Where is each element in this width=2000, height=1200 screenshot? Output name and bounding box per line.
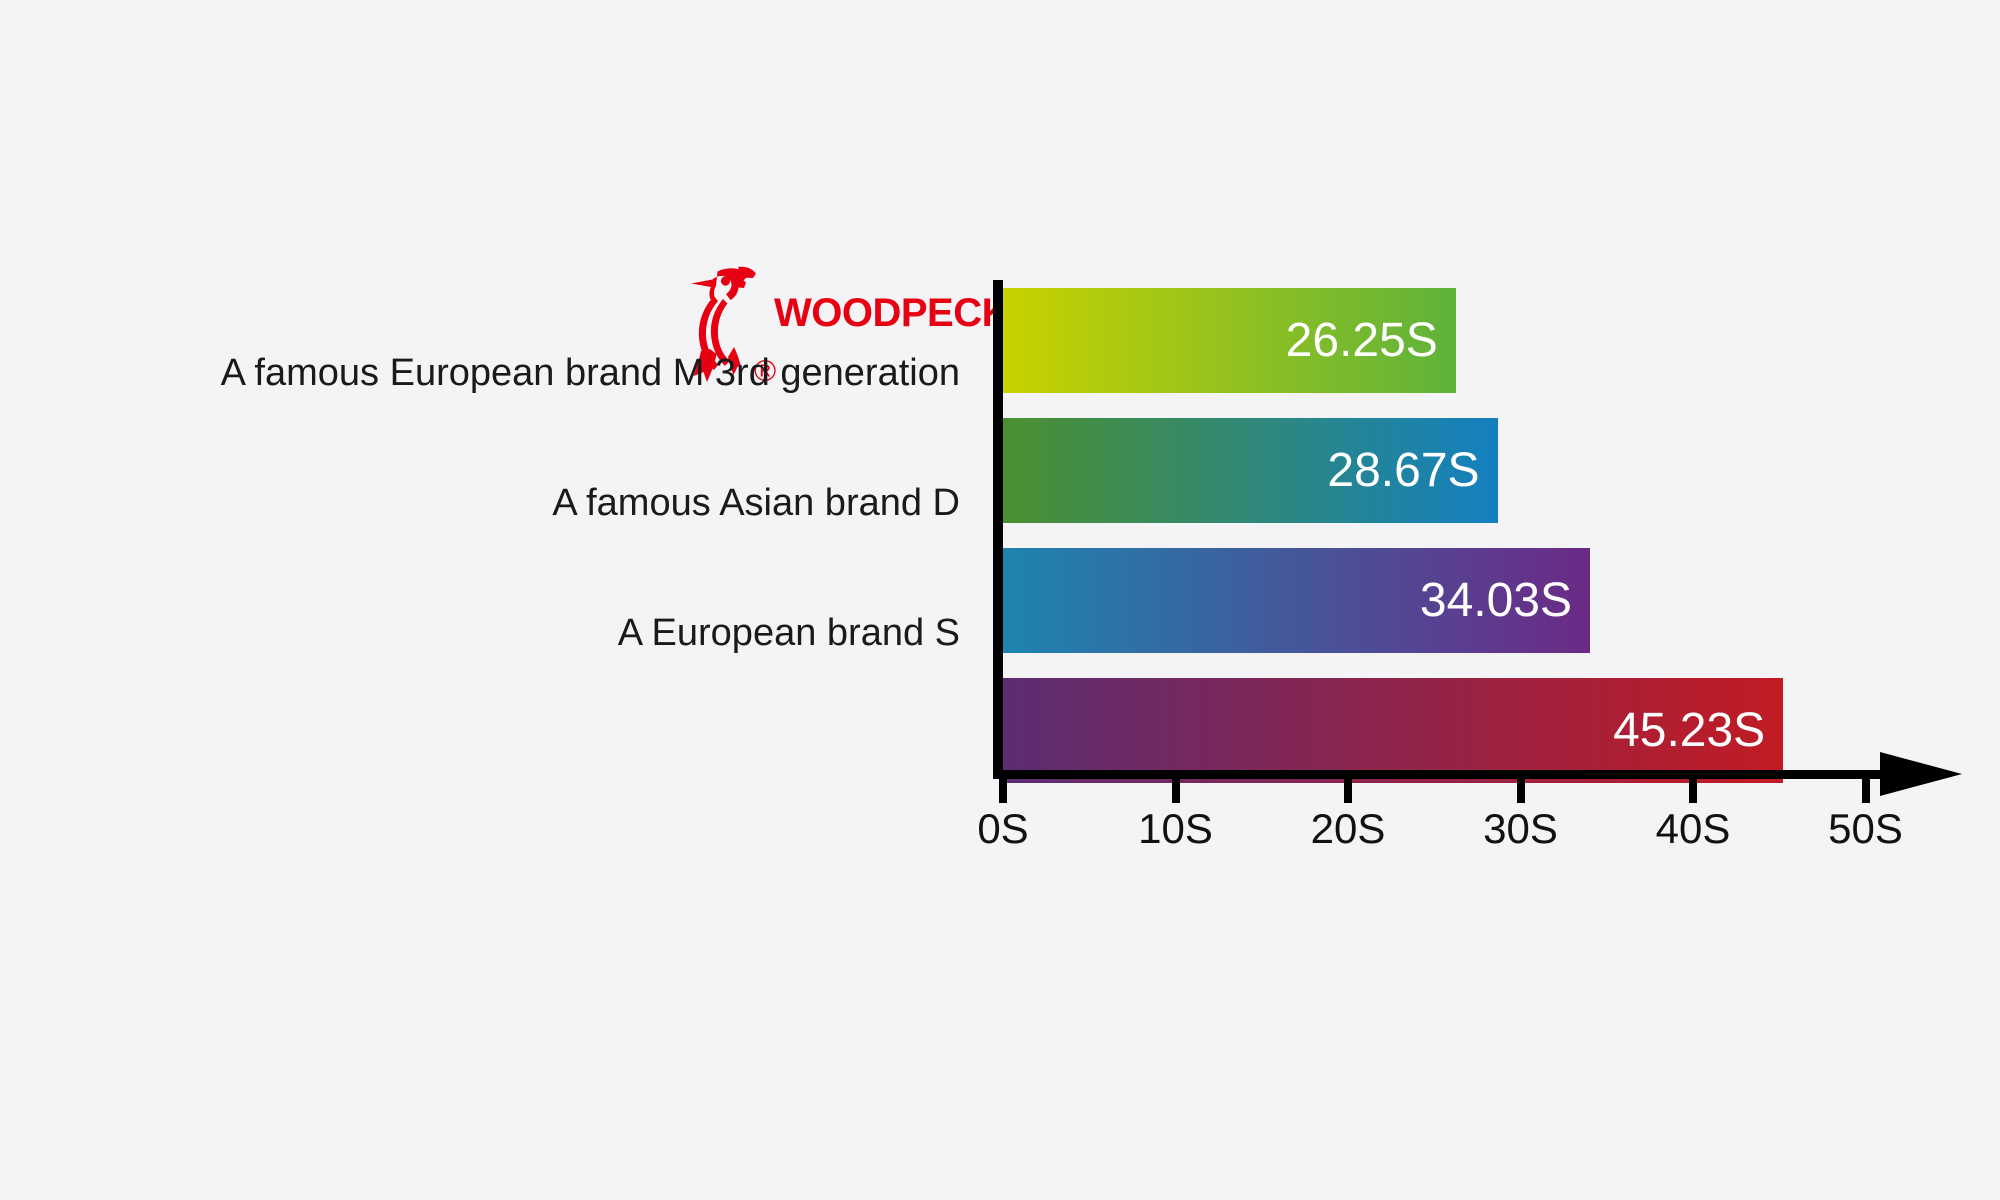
- x-axis-tick: [1344, 779, 1352, 803]
- bar-value-label: 28.67S: [1327, 443, 1497, 498]
- bar-value-label: 45.23S: [1613, 703, 1783, 758]
- x-axis-tick-label: 50S: [1828, 805, 1903, 853]
- y-axis-line: [993, 280, 1003, 770]
- x-axis-tick-label: 30S: [1483, 805, 1558, 853]
- x-axis-tick: [1172, 779, 1180, 803]
- bar-value-label: 26.25S: [1286, 313, 1456, 368]
- chart-canvas: WOODPECKER ® A famous European brand M 3…: [0, 0, 2000, 1200]
- x-axis-tick-label: 0S: [977, 805, 1028, 853]
- bar-woodpecker: 26.25S: [1003, 288, 1456, 393]
- category-label-2: A famous Asian brand D: [552, 482, 960, 525]
- x-axis-tick-label: 20S: [1311, 805, 1386, 853]
- bar-asian-brand-d: 34.03S: [1003, 548, 1590, 653]
- bar-value-label: 34.03S: [1420, 573, 1590, 628]
- x-axis-tick: [1862, 779, 1870, 803]
- x-axis-tick: [1689, 779, 1697, 803]
- category-label-1: A famous European brand M 3rd generation: [221, 352, 960, 395]
- x-axis-tick-label: 10S: [1138, 805, 1213, 853]
- bar-european-brand-s: 45.23S: [1003, 678, 1783, 783]
- axis-arrow-right-icon: [1880, 752, 1962, 796]
- bar-european-brand-m: 28.67S: [1003, 418, 1498, 523]
- x-axis-line: [993, 770, 1913, 779]
- category-label-3: A European brand S: [618, 612, 960, 655]
- x-axis-tick: [1517, 779, 1525, 803]
- x-axis-tick: [999, 779, 1007, 803]
- x-axis-tick-label: 40S: [1656, 805, 1731, 853]
